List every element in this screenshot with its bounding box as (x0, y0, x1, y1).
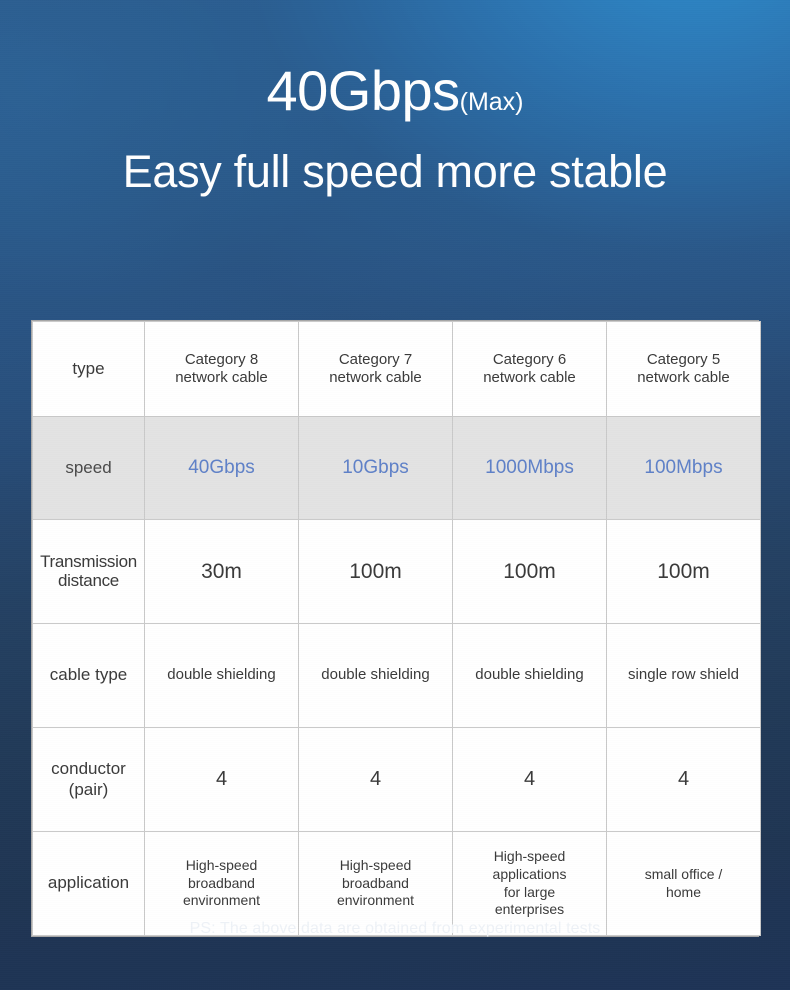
cell-cabletype-cat7: double shielding (299, 624, 453, 728)
cell-line: conductor (36, 759, 141, 779)
cell-distance-cat5: 100m (607, 520, 761, 624)
cell-speed-cat7: 10Gbps (299, 417, 453, 520)
footer-note: PS: The above data are obtained from exp… (0, 920, 790, 938)
cell-line: broadband (302, 875, 449, 893)
cell-line: for large (456, 884, 603, 902)
cell-line: network cable (456, 369, 603, 387)
table-row-conductor: conductor (pair) 4 4 4 4 (33, 728, 761, 832)
table-row-cable-type: cable type double shielding double shiel… (33, 624, 761, 728)
row-label-conductor: conductor (pair) (33, 728, 145, 832)
spec-table-container: type Category 8 network cable Category 7… (31, 320, 759, 937)
cell-conductor-cat6: 4 (453, 728, 607, 832)
cell-line: network cable (302, 369, 449, 387)
table-row-transmission-distance: Transmission distance 30m 100m 100m 100m (33, 520, 761, 624)
headline-block: 40Gbps(Max) Easy full speed more stable (0, 62, 790, 196)
cell-line: enterprises (456, 901, 603, 919)
cell-type-cat8: Category 8 network cable (145, 322, 299, 417)
cell-line: High-speed (302, 857, 449, 875)
cell-line: applications (456, 866, 603, 884)
cell-line: Category 8 (148, 351, 295, 369)
headline-speed-value: 40Gbps (266, 59, 459, 122)
cell-speed-cat8: 40Gbps (145, 417, 299, 520)
cell-line: Category 6 (456, 351, 603, 369)
promo-page: 40Gbps(Max) Easy full speed more stable … (0, 0, 790, 990)
cell-speed-cat6: 1000Mbps (453, 417, 607, 520)
row-label-cable-type: cable type (33, 624, 145, 728)
cell-type-cat7: Category 7 network cable (299, 322, 453, 417)
cell-conductor-cat8: 4 (145, 728, 299, 832)
cell-distance-cat7: 100m (299, 520, 453, 624)
cell-line: distance (36, 572, 141, 590)
cell-type-cat6: Category 6 network cable (453, 322, 607, 417)
spec-table-body: type Category 8 network cable Category 7… (33, 322, 761, 936)
cell-conductor-cat5: 4 (607, 728, 761, 832)
cell-line: Category 5 (610, 351, 757, 369)
cell-cabletype-cat8: double shielding (145, 624, 299, 728)
cell-line: Category 7 (302, 351, 449, 369)
cell-line: small office / (610, 866, 757, 884)
cell-line: environment (302, 892, 449, 910)
spec-comparison-table: type Category 8 network cable Category 7… (32, 321, 761, 936)
cell-cabletype-cat5: single row shield (607, 624, 761, 728)
row-label-type: type (33, 322, 145, 417)
cell-line: network cable (148, 369, 295, 387)
headline-secondary: Easy full speed more stable (0, 147, 790, 197)
cell-line: broadband (148, 875, 295, 893)
row-label-speed: speed (33, 417, 145, 520)
cell-line: High-speed (148, 857, 295, 875)
table-row-speed: speed 40Gbps 10Gbps 1000Mbps 100Mbps (33, 417, 761, 520)
cell-conductor-cat7: 4 (299, 728, 453, 832)
cell-line: High-speed (456, 848, 603, 866)
headline-primary: 40Gbps(Max) (0, 62, 790, 121)
cell-line: environment (148, 892, 295, 910)
cell-type-cat5: Category 5 network cable (607, 322, 761, 417)
cell-line: home (610, 884, 757, 902)
cell-distance-cat6: 100m (453, 520, 607, 624)
row-label-transmission-distance: Transmission distance (33, 520, 145, 624)
cell-line: Transmission (36, 553, 141, 571)
cell-line: network cable (610, 369, 757, 387)
cell-cabletype-cat6: double shielding (453, 624, 607, 728)
cell-speed-cat5: 100Mbps (607, 417, 761, 520)
cell-line: (pair) (36, 780, 141, 800)
cell-distance-cat8: 30m (145, 520, 299, 624)
headline-max-superscript: (Max) (460, 88, 524, 116)
table-row-type: type Category 8 network cable Category 7… (33, 322, 761, 417)
